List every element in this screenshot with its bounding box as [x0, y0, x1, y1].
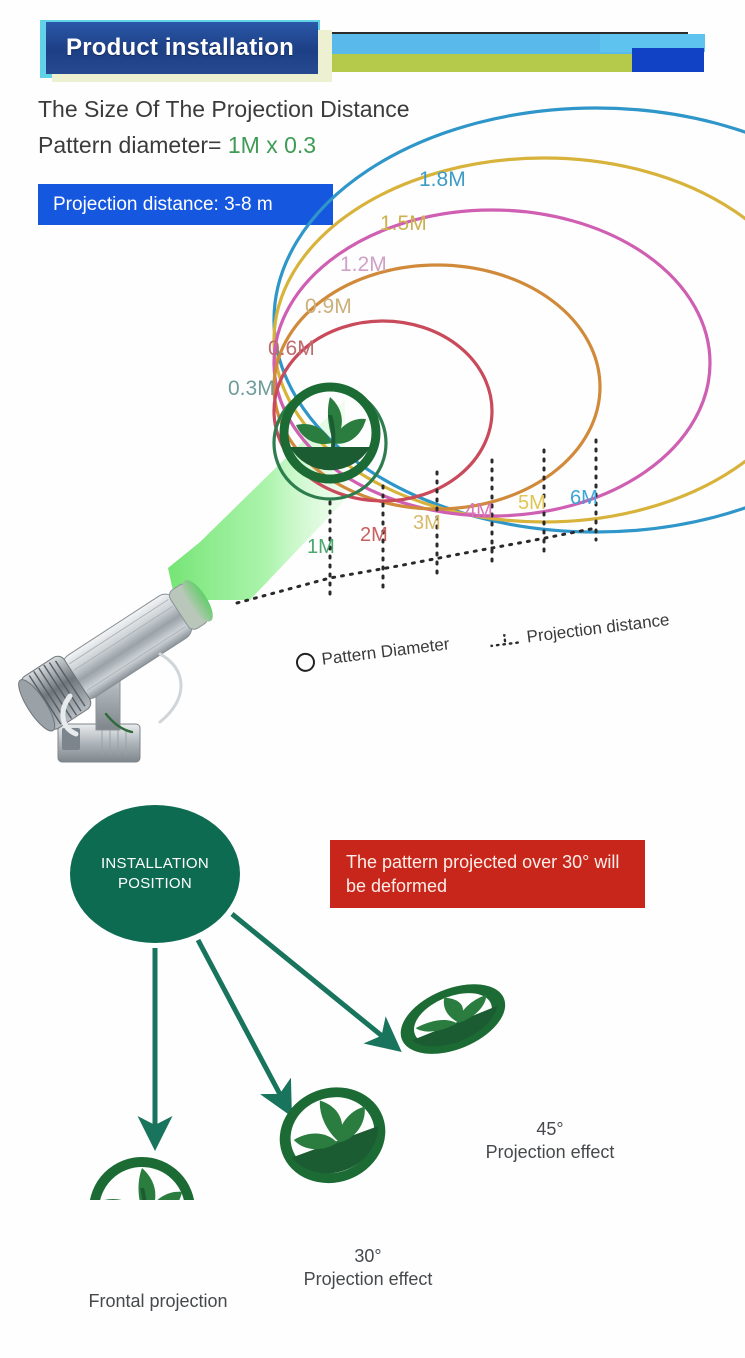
caption-45deg-angle: 45° [460, 1118, 640, 1141]
arc-label-0.3M: 0.3M [228, 377, 275, 401]
legend-pattern-diameter-label: Pattern Diameter [321, 634, 451, 670]
caption-frontal-projection: Frontal projection [68, 1290, 248, 1313]
size-heading: The Size Of The Projection Distance [38, 96, 410, 123]
page-title: Product installation [46, 34, 294, 62]
caption-30deg-text: Projection effect [278, 1268, 458, 1291]
projection-distance-badge: Projection distance: 3-8 m [38, 184, 333, 225]
circle-outline-icon [295, 651, 316, 672]
deformation-warning-text: The pattern projected over 30° will be d… [330, 850, 645, 899]
arc-label-1.8M: 1.8M [419, 168, 466, 192]
gobo-30deg-icon [273, 1079, 392, 1191]
arc-ellipse-1.5M [274, 158, 745, 522]
arc-label-1.2M: 1.2M [340, 253, 387, 277]
gobo-45deg-icon [399, 977, 508, 1062]
legend-pattern-diameter: Pattern Diameter [295, 634, 451, 673]
distance-label-3M: 3M [413, 512, 441, 535]
distance-baseline [237, 528, 596, 603]
caption-30deg-projection: 30° Projection effect [278, 1245, 458, 1292]
diagram-legend: Pattern Diameter Projection distance [296, 628, 696, 688]
banner-title-plate: Product installation [46, 22, 318, 74]
gobo-frontal-icon [94, 1162, 190, 1200]
deformation-warning-box: The pattern projected over 30° will be d… [330, 840, 645, 908]
arc-label-0.6M: 0.6M [268, 337, 315, 361]
dotted-line-icon [489, 631, 520, 649]
gobo-pattern-icon [284, 387, 376, 479]
pattern-diameter-label: Pattern diameter= [38, 132, 221, 158]
projection-distance-text: Projection distance: 3-8 m [38, 194, 273, 216]
distance-label-5M: 5M [518, 492, 546, 515]
installation-position-line2: POSITION [118, 874, 192, 894]
caption-45deg-text: Projection effect [460, 1141, 640, 1164]
caption-30deg-angle: 30° [278, 1245, 458, 1268]
distance-label-2M: 2M [360, 524, 388, 547]
caption-45deg-projection: 45° Projection effect [460, 1118, 640, 1165]
banner-darkblue-right [632, 48, 704, 72]
legend-projection-distance-label: Projection distance [526, 610, 671, 647]
arrow-45deg [232, 914, 387, 1040]
pattern-diameter-value: 1M x 0.3 [228, 132, 316, 158]
arc-label-1.5M: 1.5M [380, 212, 427, 236]
caption-frontal-text: Frontal projection [88, 1291, 227, 1311]
distance-label-1M: 1M [307, 536, 335, 559]
arc-ellipse-1.8M [274, 108, 745, 532]
distance-label-4M: 4M [465, 500, 493, 523]
arc-ellipse-0.3M [274, 387, 386, 499]
arrow-30deg [198, 940, 283, 1100]
distance-label-6M: 6M [570, 487, 598, 510]
header-banner: Product installation [0, 0, 745, 92]
arc-ellipse-group [274, 108, 745, 532]
gobo-projector-icon [10, 500, 270, 780]
distance-tick-group [330, 440, 596, 600]
installation-position-line1: INSTALLATION [101, 854, 209, 874]
pattern-diameter-line: Pattern diameter= 1M x 0.3 [38, 132, 316, 159]
installation-position-node: INSTALLATION POSITION [70, 805, 240, 943]
legend-projection-distance: Projection distance [489, 610, 671, 652]
product-installation-infographic: Product installation The Size Of The Pro… [0, 0, 745, 1358]
arc-label-0.9M: 0.9M [305, 295, 352, 319]
